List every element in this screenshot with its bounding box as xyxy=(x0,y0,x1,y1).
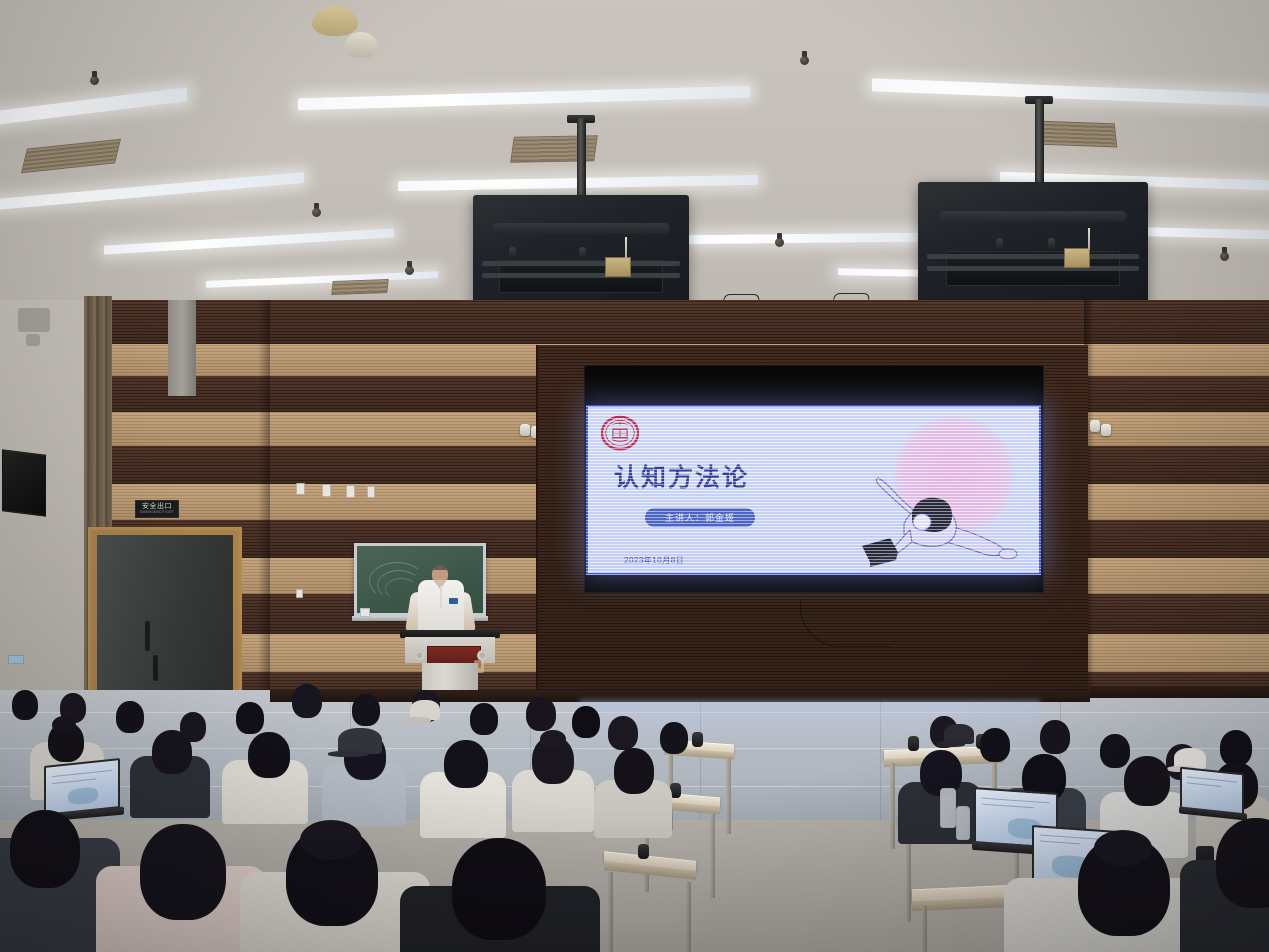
desk-leg xyxy=(686,882,691,952)
person-reading-book-illustration xyxy=(856,464,1021,569)
wall-speaker-box-left xyxy=(2,449,46,516)
tv-rail xyxy=(927,254,1139,259)
tv-rail xyxy=(482,273,681,278)
audience-head xyxy=(1220,730,1252,766)
water-bottle[interactable] xyxy=(956,806,970,840)
tv-vent-slot xyxy=(492,223,669,234)
audience-cap[interactable] xyxy=(944,724,974,744)
door-handle[interactable] xyxy=(153,655,158,681)
audience-head-foreground xyxy=(140,824,226,920)
lectern-podium xyxy=(400,630,500,698)
screen-content-line xyxy=(1187,782,1221,787)
wall-switch[interactable] xyxy=(296,589,303,598)
wall-switch[interactable] xyxy=(296,483,305,495)
antenna xyxy=(1088,228,1090,250)
podium-body xyxy=(405,637,495,663)
sprinkler-head xyxy=(405,266,414,275)
audience-hair-bun xyxy=(300,820,362,860)
presenter-pocket-badge xyxy=(449,598,458,604)
emergency-exit-sign: 安全出口 EMERGENCY EXIT xyxy=(135,500,179,518)
wall-light-fixture xyxy=(1090,420,1100,432)
water-bottle[interactable] xyxy=(940,788,956,828)
hvac-vent xyxy=(21,139,121,174)
door-handle[interactable] xyxy=(145,621,150,651)
desk-leg xyxy=(922,906,927,952)
sprinkler-head xyxy=(312,208,321,217)
desk-leg xyxy=(890,763,895,849)
audience-head xyxy=(608,716,638,750)
screen-content-line xyxy=(52,779,96,785)
screen-content-line xyxy=(1040,841,1080,845)
audience-head xyxy=(1100,734,1130,768)
university-seal-logo xyxy=(601,414,639,452)
audience-head xyxy=(614,748,654,794)
audience-cap[interactable] xyxy=(1174,748,1206,769)
wall-light-fixture xyxy=(1101,424,1111,436)
slide-date: 2023年10月8日 xyxy=(624,555,684,566)
audience-head xyxy=(1124,756,1170,806)
ceiling-light-strip xyxy=(298,86,750,111)
sprinkler-head xyxy=(90,76,99,85)
tv-mount-knob xyxy=(509,247,516,260)
led-wall-housing: 认知方法论 主讲人：郭金姬 2023年10月8日 xyxy=(536,345,1088,699)
audience-head xyxy=(236,702,264,734)
desk-leg xyxy=(726,758,731,834)
screen-content-line xyxy=(1187,776,1237,782)
audience-head xyxy=(12,690,38,720)
tv-rail xyxy=(927,266,1139,271)
tv-mount-knob xyxy=(1048,238,1055,251)
chalkboard-eraser xyxy=(360,608,370,617)
sprinkler-head xyxy=(775,238,784,247)
ceiling-light-strip xyxy=(0,87,187,126)
exit-sign-label-cn: 安全出口 xyxy=(142,503,172,510)
audience-hair-bun xyxy=(52,716,76,734)
screen-content-line xyxy=(982,798,1050,804)
audience-head xyxy=(116,701,144,733)
desk-leg xyxy=(608,872,613,952)
audience-head xyxy=(572,706,600,738)
screen-content-line xyxy=(982,804,1034,809)
hvac-vent xyxy=(1035,121,1118,148)
audience-head-foreground xyxy=(452,838,546,940)
wall-switch[interactable] xyxy=(367,486,375,498)
audience-hair-bun xyxy=(540,730,566,748)
sprinkler-head xyxy=(800,56,809,65)
audience-head xyxy=(152,730,192,774)
audience-head xyxy=(470,703,498,735)
tv-rail xyxy=(482,261,681,266)
ceiling-light-strip xyxy=(206,271,438,288)
wall-light-fixture xyxy=(520,424,530,436)
audience-head xyxy=(292,684,322,718)
audience-cap[interactable] xyxy=(410,700,440,720)
tv-vent-slot xyxy=(939,211,1128,222)
seat-backrest-knob xyxy=(908,736,919,751)
wall-corner-shadow xyxy=(258,300,270,720)
ceiling-light-strip xyxy=(872,78,1269,106)
tv-mount-knob xyxy=(579,247,586,260)
podium-rosette xyxy=(414,650,425,661)
microphone xyxy=(440,586,442,608)
slide-speaker-pill: 主讲人：郭金姬 xyxy=(645,508,755,527)
audience-head xyxy=(980,728,1010,762)
wall-baseboard xyxy=(1090,686,1269,698)
exit-sign-label-en: EMERGENCY EXIT xyxy=(140,510,174,515)
podium-rosette xyxy=(477,650,488,661)
ceiling-light-strip xyxy=(0,172,304,211)
wall-damage-patch xyxy=(18,308,50,332)
audience-cap[interactable] xyxy=(338,728,382,754)
wall-damage-patch xyxy=(26,334,40,346)
antenna xyxy=(625,237,627,259)
ceiling-tv-right xyxy=(918,182,1148,315)
audience-head xyxy=(352,694,380,726)
sprinkler-head xyxy=(1220,252,1229,261)
lecture-hall-photo: 安全出口 EMERGENCY EXIT 认知方法论 主 xyxy=(0,0,1269,952)
slide-title: 认知方法论 xyxy=(614,458,749,494)
ceiling-light-strip xyxy=(104,228,394,254)
seat-backrest-knob xyxy=(692,732,703,747)
ceiling-column xyxy=(168,300,196,396)
wall-notice-sticker xyxy=(8,655,24,664)
audience-head xyxy=(660,722,688,754)
screen-content-line xyxy=(52,770,112,777)
audience-head xyxy=(1040,720,1070,754)
desk-leg xyxy=(710,814,715,898)
audience-head xyxy=(248,732,290,778)
dome-ceiling-lamp xyxy=(344,32,378,58)
audience-head xyxy=(444,740,488,788)
wall-switch[interactable] xyxy=(322,484,331,497)
audience-head-foreground xyxy=(10,810,80,888)
audience-head xyxy=(526,697,556,731)
receiver-box xyxy=(605,257,631,277)
dome-ceiling-lamp xyxy=(312,6,358,36)
screen-content-blob xyxy=(68,786,98,805)
hvac-vent xyxy=(331,279,388,295)
receiver-box xyxy=(1064,248,1090,268)
ceiling-light-strip xyxy=(668,233,926,245)
led-video-wall[interactable]: 认知方法论 主讲人：郭金姬 2023年10月8日 xyxy=(586,405,1041,575)
seat-backrest-knob xyxy=(638,844,649,859)
audience-hair-bun xyxy=(1094,830,1152,866)
hanging-cable xyxy=(800,599,890,647)
tv-mount-knob xyxy=(996,238,1003,251)
wall-switch[interactable] xyxy=(346,485,355,498)
